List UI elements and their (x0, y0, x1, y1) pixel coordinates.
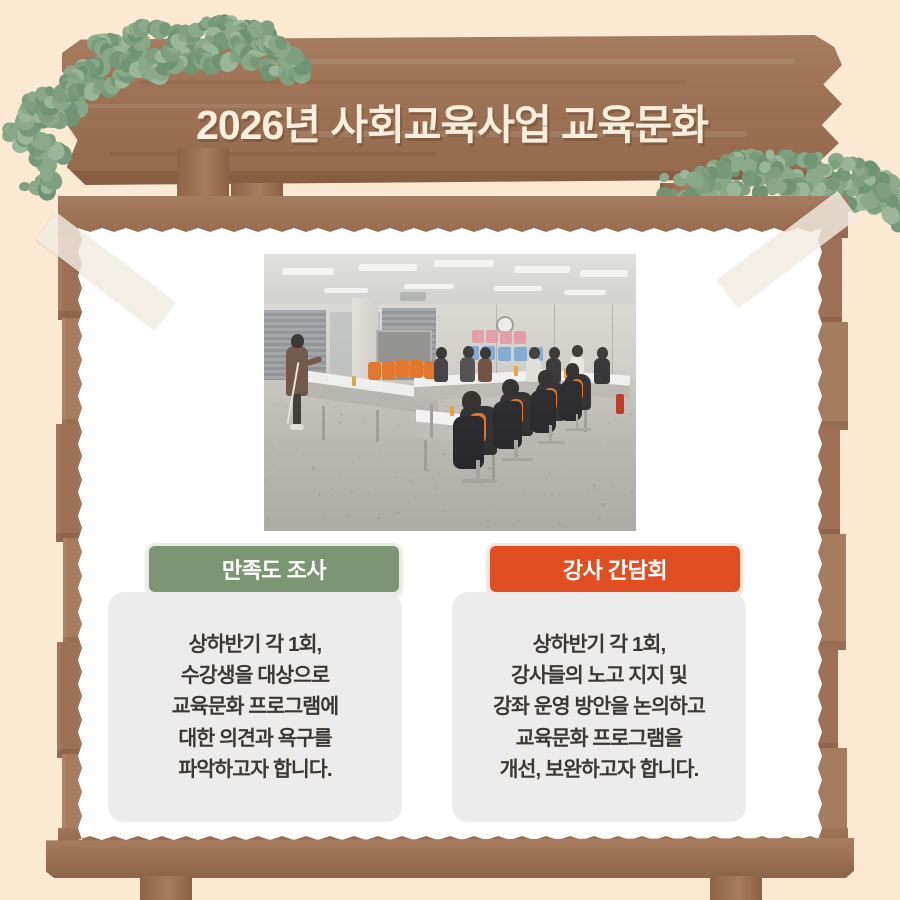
event-photo (264, 254, 636, 531)
photo-grade (264, 254, 636, 531)
info-card-left-body: 상하반기 각 1회, 수강생을 대상으로 교육문화 프로그램에 대한 의견과 욕… (172, 629, 338, 785)
poster-canvas: 2026년 사회교육사업 교육문화 만족도 조사 강사 간담회 상하반기 각 1… (0, 0, 900, 900)
bottom-leg-left (140, 876, 192, 900)
badge-right-label: 강사 간담회 (563, 553, 667, 585)
info-card-right-body: 상하반기 각 1회, 강사들의 노고 지지 및 강좌 운영 방안을 논의하고 교… (493, 629, 705, 785)
bottom-board (46, 838, 854, 878)
badge-instructor-meeting[interactable]: 강사 간담회 (487, 543, 743, 595)
info-card-instructor-meeting: 상하반기 각 1회, 강사들의 노고 지지 및 강좌 운영 방안을 논의하고 교… (452, 592, 746, 822)
bottom-leg-right (710, 876, 762, 900)
info-card-satisfaction-survey: 상하반기 각 1회, 수강생을 대상으로 교육문화 프로그램에 대한 의견과 욕… (108, 592, 402, 822)
leaf-shape (658, 171, 671, 184)
badge-satisfaction-survey[interactable]: 만족도 조사 (146, 543, 402, 595)
badge-left-label: 만족도 조사 (222, 553, 326, 585)
